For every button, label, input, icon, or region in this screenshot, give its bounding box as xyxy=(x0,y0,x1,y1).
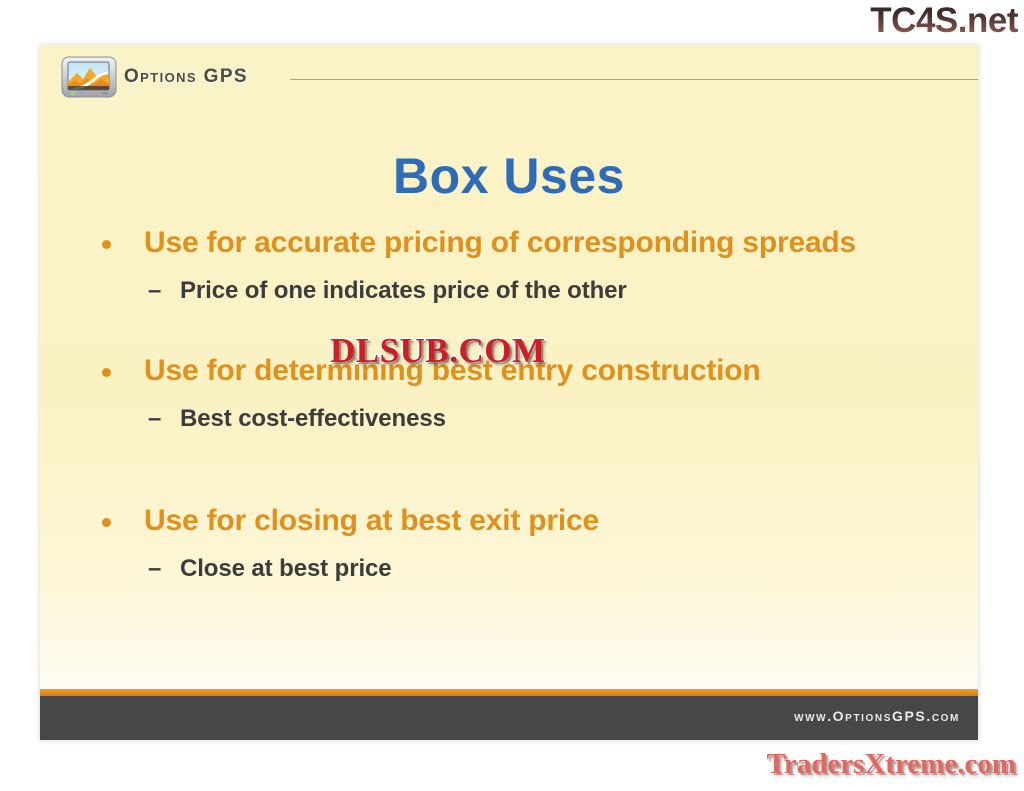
dash-marker-icon: – xyxy=(148,551,161,587)
sub-bullet-item-3: – Close at best price xyxy=(40,551,978,587)
spacer xyxy=(40,393,978,401)
spacer xyxy=(40,543,978,551)
spacer xyxy=(40,437,978,477)
footer-accent-stripe xyxy=(40,689,978,696)
bullet-item-1: Use for accurate pricing of correspondin… xyxy=(40,221,978,265)
spacer xyxy=(40,477,978,499)
bullet-text: Use for closing at best exit price xyxy=(144,504,599,537)
tc4s-watermark: TC4S.net xyxy=(870,2,1018,40)
sub-bullet-text: Price of one indicates price of the othe… xyxy=(180,277,627,304)
sub-bullet-item-2: – Best cost-effectiveness xyxy=(40,401,978,437)
sub-bullet-text: Best cost-effectiveness xyxy=(180,405,446,432)
bullet-text: Use for accurate pricing of correspondin… xyxy=(144,226,856,259)
bullet-dot-icon xyxy=(102,240,111,249)
bullet-dot-icon xyxy=(102,518,111,527)
spacer xyxy=(40,265,978,273)
header-divider xyxy=(290,79,978,80)
tradersxtreme-watermark: TradersXtreme.com xyxy=(767,748,1016,781)
gps-device-icon xyxy=(61,55,117,99)
slide-footer: www.OptionsGPS.com xyxy=(40,696,978,740)
brand-label: Options GPS xyxy=(124,66,248,88)
dash-marker-icon: – xyxy=(148,401,161,437)
page-title: Box Uses xyxy=(40,147,978,205)
bullet-item-3: Use for closing at best exit price xyxy=(40,499,978,543)
sub-bullet-item-1: – Price of one indicates price of the ot… xyxy=(40,273,978,309)
footer-website-url: www.OptionsGPS.com xyxy=(794,708,960,724)
bullet-dot-icon xyxy=(102,368,111,377)
bullet-list: Use for accurate pricing of correspondin… xyxy=(40,221,978,587)
slide-page: TC4S.net xyxy=(0,0,1024,791)
slide-header: Options GPS xyxy=(40,45,978,107)
dlsub-watermark: DLSUB.COM xyxy=(330,331,546,371)
sub-bullet-text: Close at best price xyxy=(180,555,392,582)
presentation-slide: Options GPS Box Uses Use for accurate pr… xyxy=(40,45,978,740)
dash-marker-icon: – xyxy=(148,273,161,309)
